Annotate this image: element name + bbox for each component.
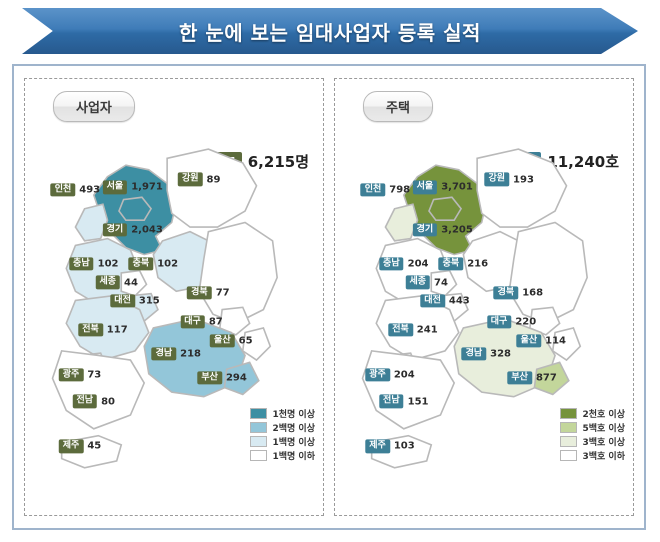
region-label-chungnam: 충남204 bbox=[379, 257, 428, 270]
region-label-jeju: 제주45 bbox=[59, 440, 101, 453]
region-label-gangwon: 강원89 bbox=[178, 173, 220, 186]
legend-row: 1백명 이상 bbox=[250, 435, 315, 448]
legend-row: 5백호 이상 bbox=[560, 421, 625, 434]
legend-label: 3백호 이상 bbox=[582, 435, 625, 448]
region-name-tag: 대구 bbox=[487, 315, 512, 328]
region-label-gyeongbuk: 경북168 bbox=[494, 286, 543, 299]
legend-row: 3백호 이하 bbox=[560, 449, 625, 462]
region-value: 65 bbox=[239, 335, 253, 346]
region-name-tag: 제주 bbox=[365, 440, 390, 453]
region-value: 168 bbox=[522, 288, 543, 299]
map-region-gangwon[interactable] bbox=[167, 149, 256, 227]
legend-swatch bbox=[560, 422, 577, 433]
region-label-sejong: 세종74 bbox=[405, 276, 447, 289]
region-value: 204 bbox=[394, 369, 415, 380]
region-label-seoul: 서울1,971 bbox=[103, 181, 163, 194]
region-name-tag: 인천 bbox=[361, 183, 386, 196]
region-label-ulsan: 울산114 bbox=[517, 334, 566, 347]
legend-label: 5백호 이상 bbox=[582, 421, 625, 434]
region-label-gyeongnam: 경남328 bbox=[462, 347, 511, 360]
region-name-tag: 전남 bbox=[379, 395, 404, 408]
region-label-seoul: 서울3,701 bbox=[413, 181, 473, 194]
legend-swatch bbox=[250, 408, 267, 419]
region-value: 114 bbox=[545, 335, 566, 346]
legend-swatch bbox=[560, 450, 577, 461]
region-value: 45 bbox=[87, 441, 101, 452]
region-name-tag: 경기 bbox=[103, 223, 128, 236]
region-name-tag: 대전 bbox=[110, 294, 135, 307]
region-value: 204 bbox=[408, 258, 429, 269]
region-name-tag: 경남 bbox=[152, 347, 177, 360]
region-value: 220 bbox=[515, 317, 536, 328]
map-panel-business: 사업자전국6,215명인천493서울1,971강원89경기2,043충남102충… bbox=[24, 78, 324, 516]
region-value: 87 bbox=[209, 317, 223, 328]
region-value: 117 bbox=[107, 325, 128, 336]
region-label-chungnam: 충남102 bbox=[69, 257, 118, 270]
region-value: 3,205 bbox=[441, 224, 473, 235]
region-label-jeju: 제주103 bbox=[365, 440, 414, 453]
region-name-tag: 충북 bbox=[129, 257, 154, 270]
legend-label: 1천명 이상 bbox=[272, 407, 315, 420]
region-name-tag: 충남 bbox=[69, 257, 94, 270]
region-label-jeonbuk: 전북241 bbox=[388, 323, 437, 336]
region-label-jeonnam: 전남151 bbox=[379, 395, 428, 408]
region-name-tag: 강원 bbox=[178, 173, 203, 186]
legend-swatch bbox=[250, 450, 267, 461]
legend-business: 1천명 이상2백명 이상1백명 이상1백명 이하 bbox=[250, 407, 315, 463]
region-name-tag: 울산 bbox=[517, 334, 542, 347]
map-region-jeonnam[interactable] bbox=[363, 351, 455, 429]
region-label-chungbuk: 충북216 bbox=[439, 257, 488, 270]
legend-label: 1백명 이하 bbox=[272, 449, 315, 462]
region-name-tag: 충북 bbox=[439, 257, 464, 270]
region-name-tag: 경북 bbox=[187, 286, 212, 299]
legend-row: 1백명 이하 bbox=[250, 449, 315, 462]
legend-swatch bbox=[560, 436, 577, 447]
region-name-tag: 광주 bbox=[59, 368, 84, 381]
region-value: 80 bbox=[101, 396, 115, 407]
region-value: 102 bbox=[98, 258, 119, 269]
region-value: 151 bbox=[408, 396, 429, 407]
region-name-tag: 울산 bbox=[210, 334, 235, 347]
legend-label: 2천호 이상 bbox=[582, 407, 625, 420]
legend-swatch bbox=[250, 422, 267, 433]
region-name-tag: 강원 bbox=[484, 173, 509, 186]
region-name-tag: 부산 bbox=[507, 371, 532, 384]
map-region-gangwon[interactable] bbox=[477, 149, 566, 227]
region-label-daegu: 대구87 bbox=[180, 315, 222, 328]
title-banner: 한 눈에 보는 임대사업자 등록 실적 bbox=[22, 8, 638, 54]
region-value: 193 bbox=[513, 174, 534, 185]
region-value: 2,043 bbox=[131, 224, 163, 235]
legend-label: 1백명 이상 bbox=[272, 435, 315, 448]
region-label-jeonnam: 전남80 bbox=[73, 395, 115, 408]
region-value: 74 bbox=[434, 277, 448, 288]
region-label-gyeongbuk: 경북77 bbox=[187, 286, 229, 299]
region-name-tag: 부산 bbox=[197, 371, 222, 384]
region-label-daejeon: 대전443 bbox=[420, 294, 469, 307]
region-label-incheon: 인천493 bbox=[51, 183, 100, 196]
region-name-tag: 경남 bbox=[462, 347, 487, 360]
region-name-tag: 세종 bbox=[405, 276, 430, 289]
region-value: 294 bbox=[226, 372, 247, 383]
region-label-gwangju: 광주73 bbox=[59, 368, 101, 381]
region-value: 216 bbox=[467, 258, 488, 269]
region-name-tag: 세종 bbox=[95, 276, 120, 289]
legend-row: 3백호 이상 bbox=[560, 435, 625, 448]
region-value: 1,971 bbox=[131, 182, 163, 193]
region-name-tag: 광주 bbox=[365, 368, 390, 381]
legend-swatch bbox=[560, 408, 577, 419]
region-name-tag: 서울 bbox=[103, 181, 128, 194]
region-label-ulsan: 울산65 bbox=[210, 334, 252, 347]
region-value: 3,701 bbox=[441, 182, 473, 193]
region-value: 443 bbox=[449, 295, 470, 306]
region-label-chungbuk: 충북102 bbox=[129, 257, 178, 270]
region-name-tag: 전남 bbox=[73, 395, 98, 408]
region-label-daegu: 대구220 bbox=[487, 315, 536, 328]
region-label-gwangju: 광주204 bbox=[365, 368, 414, 381]
legend-row: 1천명 이상 bbox=[250, 407, 315, 420]
region-value: 73 bbox=[87, 369, 101, 380]
legend-housing: 2천호 이상5백호 이상3백호 이상3백호 이하 bbox=[560, 407, 625, 463]
region-label-daejeon: 대전315 bbox=[110, 294, 159, 307]
legend-row: 2천호 이상 bbox=[560, 407, 625, 420]
region-value: 877 bbox=[536, 372, 557, 383]
legend-swatch bbox=[250, 436, 267, 447]
region-value: 493 bbox=[79, 184, 100, 195]
region-name-tag: 전북 bbox=[388, 323, 413, 336]
region-name-tag: 충남 bbox=[379, 257, 404, 270]
region-value: 102 bbox=[157, 258, 178, 269]
region-value: 798 bbox=[389, 184, 410, 195]
region-name-tag: 대전 bbox=[420, 294, 445, 307]
region-label-gyeongnam: 경남218 bbox=[152, 347, 201, 360]
region-value: 218 bbox=[180, 348, 201, 359]
region-label-jeonbuk: 전북117 bbox=[78, 323, 127, 336]
region-name-tag: 경기 bbox=[413, 223, 438, 236]
region-label-gyeonggi: 경기2,043 bbox=[103, 223, 163, 236]
region-value: 89 bbox=[207, 174, 221, 185]
region-name-tag: 경북 bbox=[494, 286, 519, 299]
legend-label: 3백호 이하 bbox=[582, 449, 625, 462]
region-name-tag: 전북 bbox=[78, 323, 103, 336]
content-frame: 사업자전국6,215명인천493서울1,971강원89경기2,043충남102충… bbox=[12, 64, 646, 530]
region-name-tag: 제주 bbox=[59, 440, 84, 453]
legend-row: 2백명 이상 bbox=[250, 421, 315, 434]
region-value: 241 bbox=[417, 325, 438, 336]
region-value: 328 bbox=[490, 348, 511, 359]
region-value: 77 bbox=[216, 288, 230, 299]
region-label-busan: 부산294 bbox=[197, 371, 246, 384]
title-banner-wrap: 한 눈에 보는 임대사업자 등록 실적 bbox=[0, 8, 660, 54]
map-region-jeonnam[interactable] bbox=[53, 351, 145, 429]
region-value: 103 bbox=[394, 441, 415, 452]
map-panels: 사업자전국6,215명인천493서울1,971강원89경기2,043충남102충… bbox=[14, 66, 644, 528]
region-name-tag: 서울 bbox=[413, 181, 438, 194]
map-panel-housing: 주택전국11,240호인천798서울3,701강원193경기3,205충남204… bbox=[334, 78, 634, 516]
region-value: 315 bbox=[139, 295, 160, 306]
region-name-tag: 대구 bbox=[180, 315, 205, 328]
region-label-incheon: 인천798 bbox=[361, 183, 410, 196]
region-label-gangwon: 강원193 bbox=[484, 173, 533, 186]
region-label-gyeonggi: 경기3,205 bbox=[413, 223, 473, 236]
region-name-tag: 인천 bbox=[51, 183, 76, 196]
region-label-busan: 부산877 bbox=[507, 371, 556, 384]
region-value: 44 bbox=[124, 277, 138, 288]
legend-label: 2백명 이상 bbox=[272, 421, 315, 434]
region-label-sejong: 세종44 bbox=[95, 276, 137, 289]
page-title: 한 눈에 보는 임대사업자 등록 실적 bbox=[179, 17, 481, 46]
